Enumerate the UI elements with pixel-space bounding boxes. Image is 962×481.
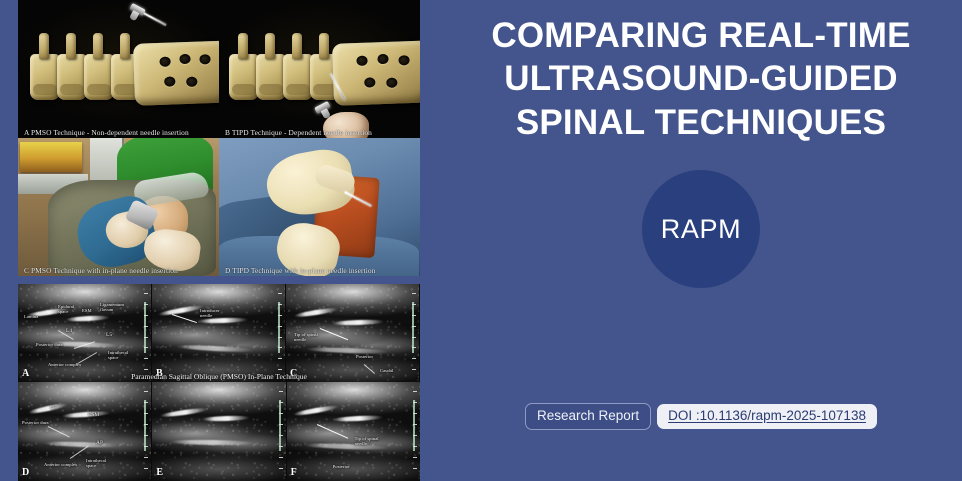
sacrum-icon bbox=[133, 40, 219, 106]
vertebra-icon bbox=[84, 54, 114, 100]
depth-scale bbox=[409, 386, 417, 477]
figure-panel-c-caption: C PMSO Technique with in-plane needle in… bbox=[18, 266, 219, 275]
figure-panel-a: A PMSO Technique - Non-dependent needle … bbox=[18, 0, 219, 138]
annot-lamina: Lamina bbox=[24, 314, 38, 319]
vertebral-column-a bbox=[26, 26, 211, 100]
article-type-badge[interactable]: Research Report bbox=[525, 403, 651, 430]
annot-intrathecal-space: Intrathecal space bbox=[108, 350, 128, 360]
figure-panel-d-caption: D TIPD Technique with in-plane needle in… bbox=[219, 266, 420, 275]
rapm-logo-label: RAPM bbox=[661, 214, 741, 245]
ultrasound-panel-c: Tip of spinal needle Posterior Caudal C bbox=[286, 284, 420, 382]
ultrasound-panel-e: E bbox=[152, 382, 286, 481]
ultrasound-panel-letter: D bbox=[22, 467, 29, 478]
ultrasound-row-caption: Paramedian Sagittal Oblique (PMSO) In-Pl… bbox=[18, 372, 420, 381]
title-line-2: ULTRASOUND-GUIDED bbox=[451, 57, 951, 100]
annot-intrathecal-space: Intrathecal space bbox=[86, 458, 106, 468]
techniques-figure: A PMSO Technique - Non-dependent needle … bbox=[18, 0, 420, 276]
techniques-row-top: A PMSO Technique - Non-dependent needle … bbox=[18, 0, 420, 138]
vertebra-icon bbox=[57, 54, 87, 100]
sacral-foramen-icon bbox=[159, 57, 170, 67]
sacral-foramen-icon bbox=[186, 77, 197, 87]
techniques-row-bottom: C PMSO Technique with in-plane needle in… bbox=[18, 138, 420, 276]
vertebral-column-b bbox=[227, 26, 412, 100]
ultrasound-figure: Epidural space ESM Ligamentum flavum Lam… bbox=[18, 284, 420, 481]
figure-panel-d: D TIPD Technique with in-plane needle in… bbox=[219, 138, 420, 276]
annot-posterior: Posterior bbox=[356, 354, 373, 359]
rapm-logo-icon: RAPM bbox=[642, 170, 760, 288]
supply-shelf bbox=[20, 142, 82, 172]
annot-posterior: Posterior bbox=[333, 464, 350, 469]
sacral-foramen-icon bbox=[356, 56, 367, 66]
spine-specimen-b-stage bbox=[219, 0, 420, 138]
sacral-foramen-icon bbox=[164, 76, 175, 86]
figure-panel-a-caption: A PMSO Technique - Non-dependent needle … bbox=[18, 128, 219, 137]
vertebra-icon bbox=[256, 54, 286, 100]
title-line-3: SPINAL TECHNIQUES bbox=[451, 101, 951, 144]
annot-posterior-dura: Posterior dura bbox=[36, 342, 63, 347]
annot-epidural-space: Epidural space bbox=[58, 304, 74, 314]
depth-scale bbox=[274, 288, 282, 378]
sacral-foramen-icon bbox=[179, 54, 190, 64]
ultrasound-speckle bbox=[152, 382, 285, 481]
logo-wrapper: RAPM bbox=[642, 170, 760, 288]
doi-badge[interactable]: DOI :10.1136/rapm-2025-107138 bbox=[657, 404, 877, 429]
page-title: COMPARING REAL-TIME ULTRASOUND-GUIDED SP… bbox=[451, 14, 951, 144]
sacral-foramen-icon bbox=[364, 77, 375, 87]
sacral-foramen-icon bbox=[386, 78, 397, 88]
ultrasound-panel-b: Introducer needle B bbox=[152, 284, 286, 382]
ultrasound-panel-d: LF ESM AP Posterior dura Anterior comple… bbox=[18, 382, 152, 481]
figure-panel-b-caption: B TIPD Technique - Dependent needle inse… bbox=[219, 128, 420, 137]
vertebra-icon bbox=[30, 54, 60, 100]
ultrasound-panel-a: Epidural space ESM Ligamentum flavum Lam… bbox=[18, 284, 152, 382]
ultrasound-speckle bbox=[152, 284, 285, 382]
ultrasound-panel-letter: F bbox=[291, 467, 297, 478]
ultrasound-speckle bbox=[18, 284, 151, 382]
annot-tip-of-spinal-needle: Tip of spinal needle bbox=[355, 436, 379, 446]
title-line-1: COMPARING REAL-TIME bbox=[451, 14, 951, 57]
annot-tip-of-spinal-needle: Tip of spinal needle bbox=[294, 332, 318, 342]
spine-specimen-a-stage bbox=[18, 0, 219, 138]
sacral-foramen-icon bbox=[199, 54, 210, 64]
ultrasound-speckle bbox=[287, 382, 420, 481]
content-column: COMPARING REAL-TIME ULTRASOUND-GUIDED SP… bbox=[440, 0, 962, 481]
annot-anterior-complex: Anterior complex bbox=[44, 462, 77, 467]
annot-introducer-needle: Introducer needle bbox=[200, 308, 220, 318]
ultrasound-panel-letter: E bbox=[156, 467, 163, 478]
annot-ligamentum-flavum: Ligamentum flavum bbox=[100, 302, 124, 312]
sacral-foramen-icon bbox=[398, 55, 409, 65]
sacrum-icon bbox=[332, 40, 420, 106]
badge-row: Research Report DOI :10.1136/rapm-2025-1… bbox=[440, 403, 962, 430]
annot-l5: L5 bbox=[106, 332, 112, 338]
figure-panel-c: C PMSO Technique with in-plane needle in… bbox=[18, 138, 219, 276]
sacral-foramen-icon bbox=[377, 54, 388, 64]
doi-link[interactable]: DOI :10.1136/rapm-2025-107138 bbox=[668, 408, 866, 423]
depth-scale bbox=[140, 386, 148, 477]
figure-panel-b: B TIPD Technique - Dependent needle inse… bbox=[219, 0, 420, 138]
needle-hub-icon bbox=[129, 3, 146, 16]
vertebra-icon bbox=[283, 54, 313, 100]
annot-esm: ESM bbox=[88, 412, 99, 418]
annot-anterior-complex: Anterior complex bbox=[48, 362, 81, 367]
figure-column: A PMSO Technique - Non-dependent needle … bbox=[18, 0, 420, 481]
ultrasound-row-bottom: LF ESM AP Posterior dura Anterior comple… bbox=[18, 382, 420, 481]
annot-l4: L4 bbox=[66, 328, 72, 334]
annot-lf: LF bbox=[50, 406, 56, 412]
clinical-photo-c bbox=[18, 138, 219, 276]
poster-canvas: A PMSO Technique - Non-dependent needle … bbox=[0, 0, 962, 481]
annot-ap: AP bbox=[96, 440, 103, 446]
ultrasound-panel-f: Tip of spinal needle Posterior F bbox=[287, 382, 420, 481]
depth-scale bbox=[275, 386, 283, 477]
vertebra-icon bbox=[229, 54, 259, 100]
annot-posterior-dura: Posterior dura bbox=[22, 420, 49, 425]
clinical-photo-d bbox=[219, 138, 420, 276]
depth-scale bbox=[408, 288, 416, 378]
needle-hub-icon bbox=[314, 101, 331, 114]
ultrasound-speckle bbox=[18, 382, 151, 481]
annot-esm: ESM bbox=[82, 308, 92, 313]
depth-scale bbox=[140, 288, 148, 378]
ultrasound-row-top: Epidural space ESM Ligamentum flavum Lam… bbox=[18, 284, 420, 382]
